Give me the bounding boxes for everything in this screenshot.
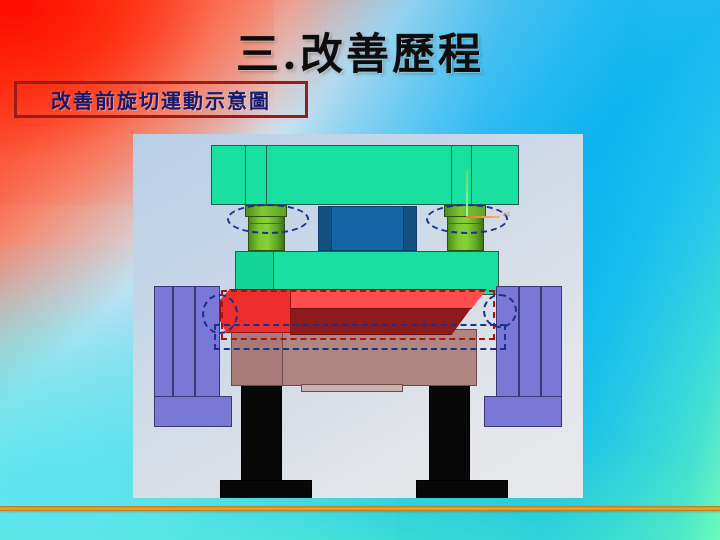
upper-platen-seam-left2 [266, 145, 267, 205]
page-title: 三.改善歷程 [0, 20, 720, 82]
center-punch-block-left-face [318, 206, 332, 251]
upper-platen-seam-left [245, 145, 246, 205]
center-punch-block-right-face [403, 206, 417, 251]
bottom-divider-rule [0, 506, 720, 511]
slide-canvas: 三.改善歷程 改善前旋切運動示意圖 [0, 0, 720, 540]
left-rotation-indicator [227, 204, 309, 234]
upper-platen [211, 145, 519, 205]
mid-platen [273, 251, 499, 295]
axis-y-arrow [466, 170, 468, 216]
upper-platen-seam-right [451, 145, 452, 205]
mid-platen-left-step [235, 251, 274, 295]
diagram-canvas: xc [133, 134, 583, 498]
axis-label: xc [503, 211, 511, 218]
subtitle-box: 改善前旋切運動示意圖 [14, 81, 308, 118]
subtitle-text: 改善前旋切運動示意圖 [51, 85, 271, 114]
left-side-rail-foot [154, 396, 232, 427]
left-support-leg-foot [220, 480, 312, 498]
right-support-leg [429, 386, 470, 481]
upper-platen-seam-right2 [471, 145, 472, 205]
right-side-rail-foot [484, 396, 562, 427]
die-base-shim [301, 384, 403, 392]
left-support-leg [241, 386, 282, 481]
center-punch-block [331, 206, 404, 251]
die-travel-outline [214, 324, 506, 350]
axis-x-arrow [466, 216, 500, 218]
diagram-figure: xc [133, 134, 583, 498]
right-support-leg-foot [416, 480, 508, 498]
